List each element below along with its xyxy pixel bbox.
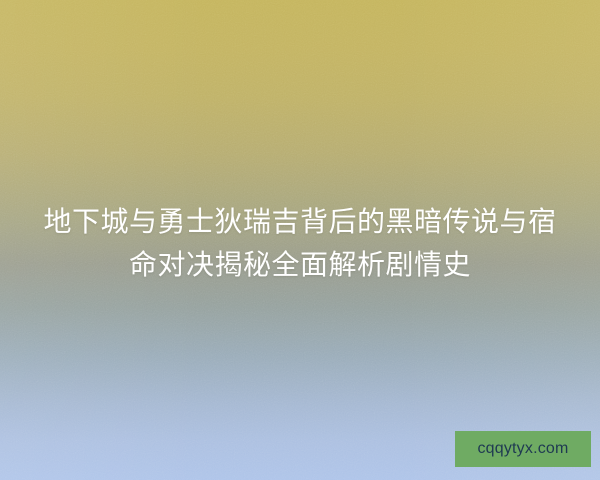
watermark-badge: cqqytyx.com — [455, 431, 591, 467]
watermark-label: cqqytyx.com — [477, 441, 568, 457]
background-gradient — [0, 0, 600, 480]
image-canvas: 地下城与勇士狄瑞吉背后的黑暗传说与宿 命对决揭秘全面解析剧情史 cqqytyx.… — [0, 0, 600, 480]
